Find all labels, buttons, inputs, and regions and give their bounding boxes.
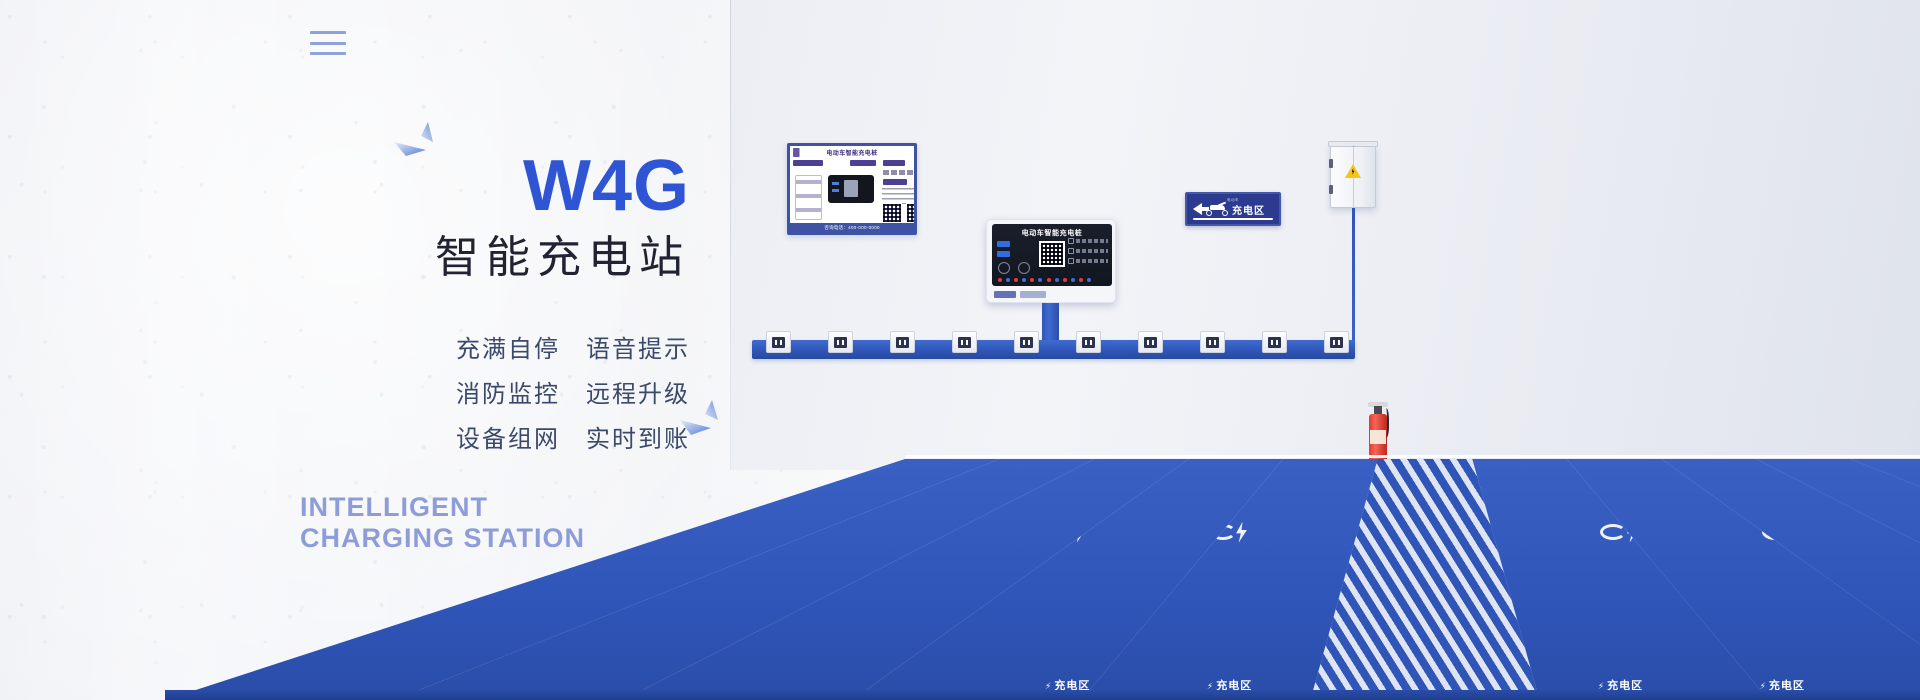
wall-power-socket[interactable] bbox=[1200, 331, 1225, 353]
socket-face-icon bbox=[1020, 337, 1033, 348]
right-wall bbox=[730, 0, 1920, 470]
device-display bbox=[832, 182, 839, 185]
pile-row-text bbox=[1076, 239, 1108, 243]
scooter-icon bbox=[1206, 203, 1228, 216]
poster-logo-icon bbox=[793, 148, 810, 157]
wall-power-socket[interactable] bbox=[1076, 331, 1101, 353]
socket-face-icon bbox=[1082, 337, 1095, 348]
plug-shape bbox=[1600, 524, 1626, 540]
floor-far-edge bbox=[905, 455, 1920, 458]
feature-item: 实时到账 bbox=[586, 419, 690, 454]
wall-info-poster: 电动车智能充电桩 咨询电话：400-000-0000 bbox=[787, 143, 917, 235]
pile-led bbox=[1079, 278, 1083, 282]
sign-underline bbox=[1193, 218, 1273, 220]
wall-power-socket[interactable] bbox=[1138, 331, 1163, 353]
poster-text-block bbox=[882, 188, 916, 204]
pile-led bbox=[998, 278, 1002, 282]
poster-chip bbox=[793, 160, 823, 166]
pile-led bbox=[1006, 278, 1010, 282]
poster-footer: 咨询电话：400-000-0000 bbox=[790, 223, 914, 232]
wall-power-socket[interactable] bbox=[766, 331, 791, 353]
page-title: W4G bbox=[260, 150, 690, 222]
pile-led bbox=[1038, 278, 1042, 282]
pile-led bbox=[1087, 278, 1091, 282]
poster-title: 电动车智能充电桩 bbox=[826, 148, 877, 157]
pile-row-text bbox=[1076, 249, 1108, 253]
extinguisher-hose bbox=[1382, 408, 1389, 438]
parking-floor: ⚡充电区⚡充电区⚡充电区⚡充电区⚡充电区⚡充电区⚡充电区⚡充电区⚡充电区⚡充电区 bbox=[690, 455, 1920, 700]
poster-header: 电动车智能充电桩 bbox=[790, 146, 914, 159]
pile-led bbox=[1055, 278, 1059, 282]
socket-face-icon bbox=[1330, 337, 1343, 348]
poster-chip bbox=[883, 179, 907, 185]
feature-item: 充满自停 bbox=[456, 329, 560, 364]
socket-face-icon bbox=[772, 337, 785, 348]
hero-banner: W4G 智能充电站 充满自停 语音提示 消防监控 远程升级 设备组网 实时到账 … bbox=[0, 0, 1920, 700]
charging-pile-unit: 电动车智能充电桩 bbox=[986, 219, 1116, 303]
pile-led bbox=[1030, 278, 1034, 282]
floor-plate: ⚡充电区⚡充电区⚡充电区⚡充电区⚡充电区⚡充电区⚡充电区⚡充电区⚡充电区⚡充电区 bbox=[0, 455, 1920, 700]
pile-digital-display bbox=[997, 241, 1010, 247]
pile-led bbox=[1022, 278, 1026, 282]
socket-face-icon bbox=[1206, 337, 1219, 348]
direction-sign[interactable]: 电动车 充电区 bbox=[1185, 192, 1281, 226]
device-display bbox=[832, 189, 839, 192]
pile-qr-code bbox=[1039, 241, 1065, 267]
wall-power-socket[interactable] bbox=[952, 331, 977, 353]
charging-pile-pole bbox=[1042, 303, 1059, 343]
pile-led-indicators bbox=[998, 278, 1091, 282]
cabinet-hinge bbox=[1329, 159, 1333, 168]
pile-led bbox=[1063, 278, 1067, 282]
poster-device-photo bbox=[828, 175, 874, 203]
socket-face-icon bbox=[834, 337, 847, 348]
feature-item: 消防监控 bbox=[456, 374, 560, 409]
poster-flow-diagram-left bbox=[795, 175, 822, 220]
pile-info-row bbox=[1068, 238, 1108, 244]
scooter-wheel bbox=[1222, 210, 1228, 216]
menu-line-1 bbox=[310, 31, 346, 34]
socket-face-icon bbox=[1144, 337, 1157, 348]
feature-item: 设备组网 bbox=[456, 419, 560, 454]
cabinet-power-conduit bbox=[1352, 208, 1355, 345]
wall-corner-line bbox=[730, 0, 731, 470]
poster-chip bbox=[883, 160, 905, 166]
poster-body bbox=[790, 159, 914, 225]
feature-list: 充满自停 语音提示 消防监控 远程升级 设备组网 实时到账 bbox=[260, 329, 690, 454]
lightning-bolt-shape bbox=[1235, 522, 1248, 543]
menu-line-2 bbox=[310, 42, 346, 45]
cabinet-hinge bbox=[1329, 185, 1333, 194]
pile-led bbox=[1014, 278, 1018, 282]
poster-chip bbox=[850, 160, 876, 166]
pile-row-icon bbox=[1068, 258, 1074, 264]
menu-line-3 bbox=[310, 52, 346, 55]
poster-qr-code bbox=[882, 203, 902, 223]
wall-power-socket[interactable] bbox=[1324, 331, 1349, 353]
pile-row-text bbox=[1076, 259, 1108, 263]
pile-led bbox=[1047, 278, 1051, 282]
device-qr bbox=[844, 180, 858, 197]
pile-info-row bbox=[1068, 248, 1108, 254]
feature-row: 消防监控 远程升级 bbox=[456, 374, 690, 409]
plug-shape bbox=[562, 524, 588, 540]
feature-row: 设备组网 实时到账 bbox=[456, 419, 690, 454]
pile-knob-icon[interactable] bbox=[998, 262, 1010, 274]
charging-station-illustration: 电动车智能充电桩 咨询电话：400-000-0000 bbox=[690, 0, 1920, 700]
wall-power-socket[interactable] bbox=[828, 331, 853, 353]
pile-footer-logos bbox=[987, 287, 1115, 302]
pile-info-rows bbox=[1068, 238, 1108, 268]
hero-copy: W4G 智能充电站 充满自停 语音提示 消防监控 远程升级 设备组网 实时到账 bbox=[260, 150, 690, 454]
wall-power-rail bbox=[752, 340, 1355, 359]
scooter-wheel bbox=[1206, 210, 1212, 216]
left-arrow-icon bbox=[1193, 203, 1202, 215]
socket-face-icon bbox=[896, 337, 909, 348]
hamburger-menu-icon[interactable] bbox=[310, 31, 346, 55]
socket-face-icon bbox=[1268, 337, 1281, 348]
page-subtitle: 智能充电站 bbox=[260, 232, 690, 285]
high-voltage-warning-icon bbox=[1345, 164, 1361, 178]
poster-footer-text: 咨询电话：400-000-0000 bbox=[824, 225, 880, 231]
feature-item: 远程升级 bbox=[586, 374, 690, 409]
charging-plug-icon bbox=[562, 522, 602, 544]
pile-digital-display bbox=[997, 251, 1010, 257]
socket-face-icon bbox=[958, 337, 971, 348]
pile-cert-logo bbox=[1020, 291, 1046, 298]
pile-brand-logo bbox=[994, 291, 1016, 298]
pile-row-icon bbox=[1068, 248, 1074, 254]
feature-item: 语音提示 bbox=[586, 329, 690, 364]
parking-bay-row: ⚡充电区⚡充电区⚡充电区⚡充电区⚡充电区⚡充电区⚡充电区⚡充电区⚡充电区⚡充电区 bbox=[0, 455, 1920, 700]
lightning-bolt-shape bbox=[587, 522, 600, 543]
charging-pile-title: 电动车智能充电桩 bbox=[992, 228, 1112, 238]
feature-row: 充满自停 语音提示 bbox=[456, 329, 690, 364]
pile-row-icon bbox=[1068, 238, 1074, 244]
wall-power-socket[interactable] bbox=[1014, 331, 1039, 353]
pile-knob-icon[interactable] bbox=[1018, 262, 1030, 274]
electrical-cabinet bbox=[1330, 144, 1376, 208]
sign-label: 充电区 bbox=[1232, 202, 1265, 217]
floor-near-edge bbox=[165, 690, 1920, 700]
wall-power-socket[interactable] bbox=[890, 331, 915, 353]
pile-info-row bbox=[1068, 258, 1108, 264]
wall-power-socket[interactable] bbox=[1262, 331, 1287, 353]
charging-pile-panel: 电动车智能充电桩 bbox=[992, 224, 1112, 286]
poster-qr-code bbox=[906, 203, 917, 223]
pile-led bbox=[1071, 278, 1075, 282]
poster-text-block bbox=[883, 170, 915, 175]
